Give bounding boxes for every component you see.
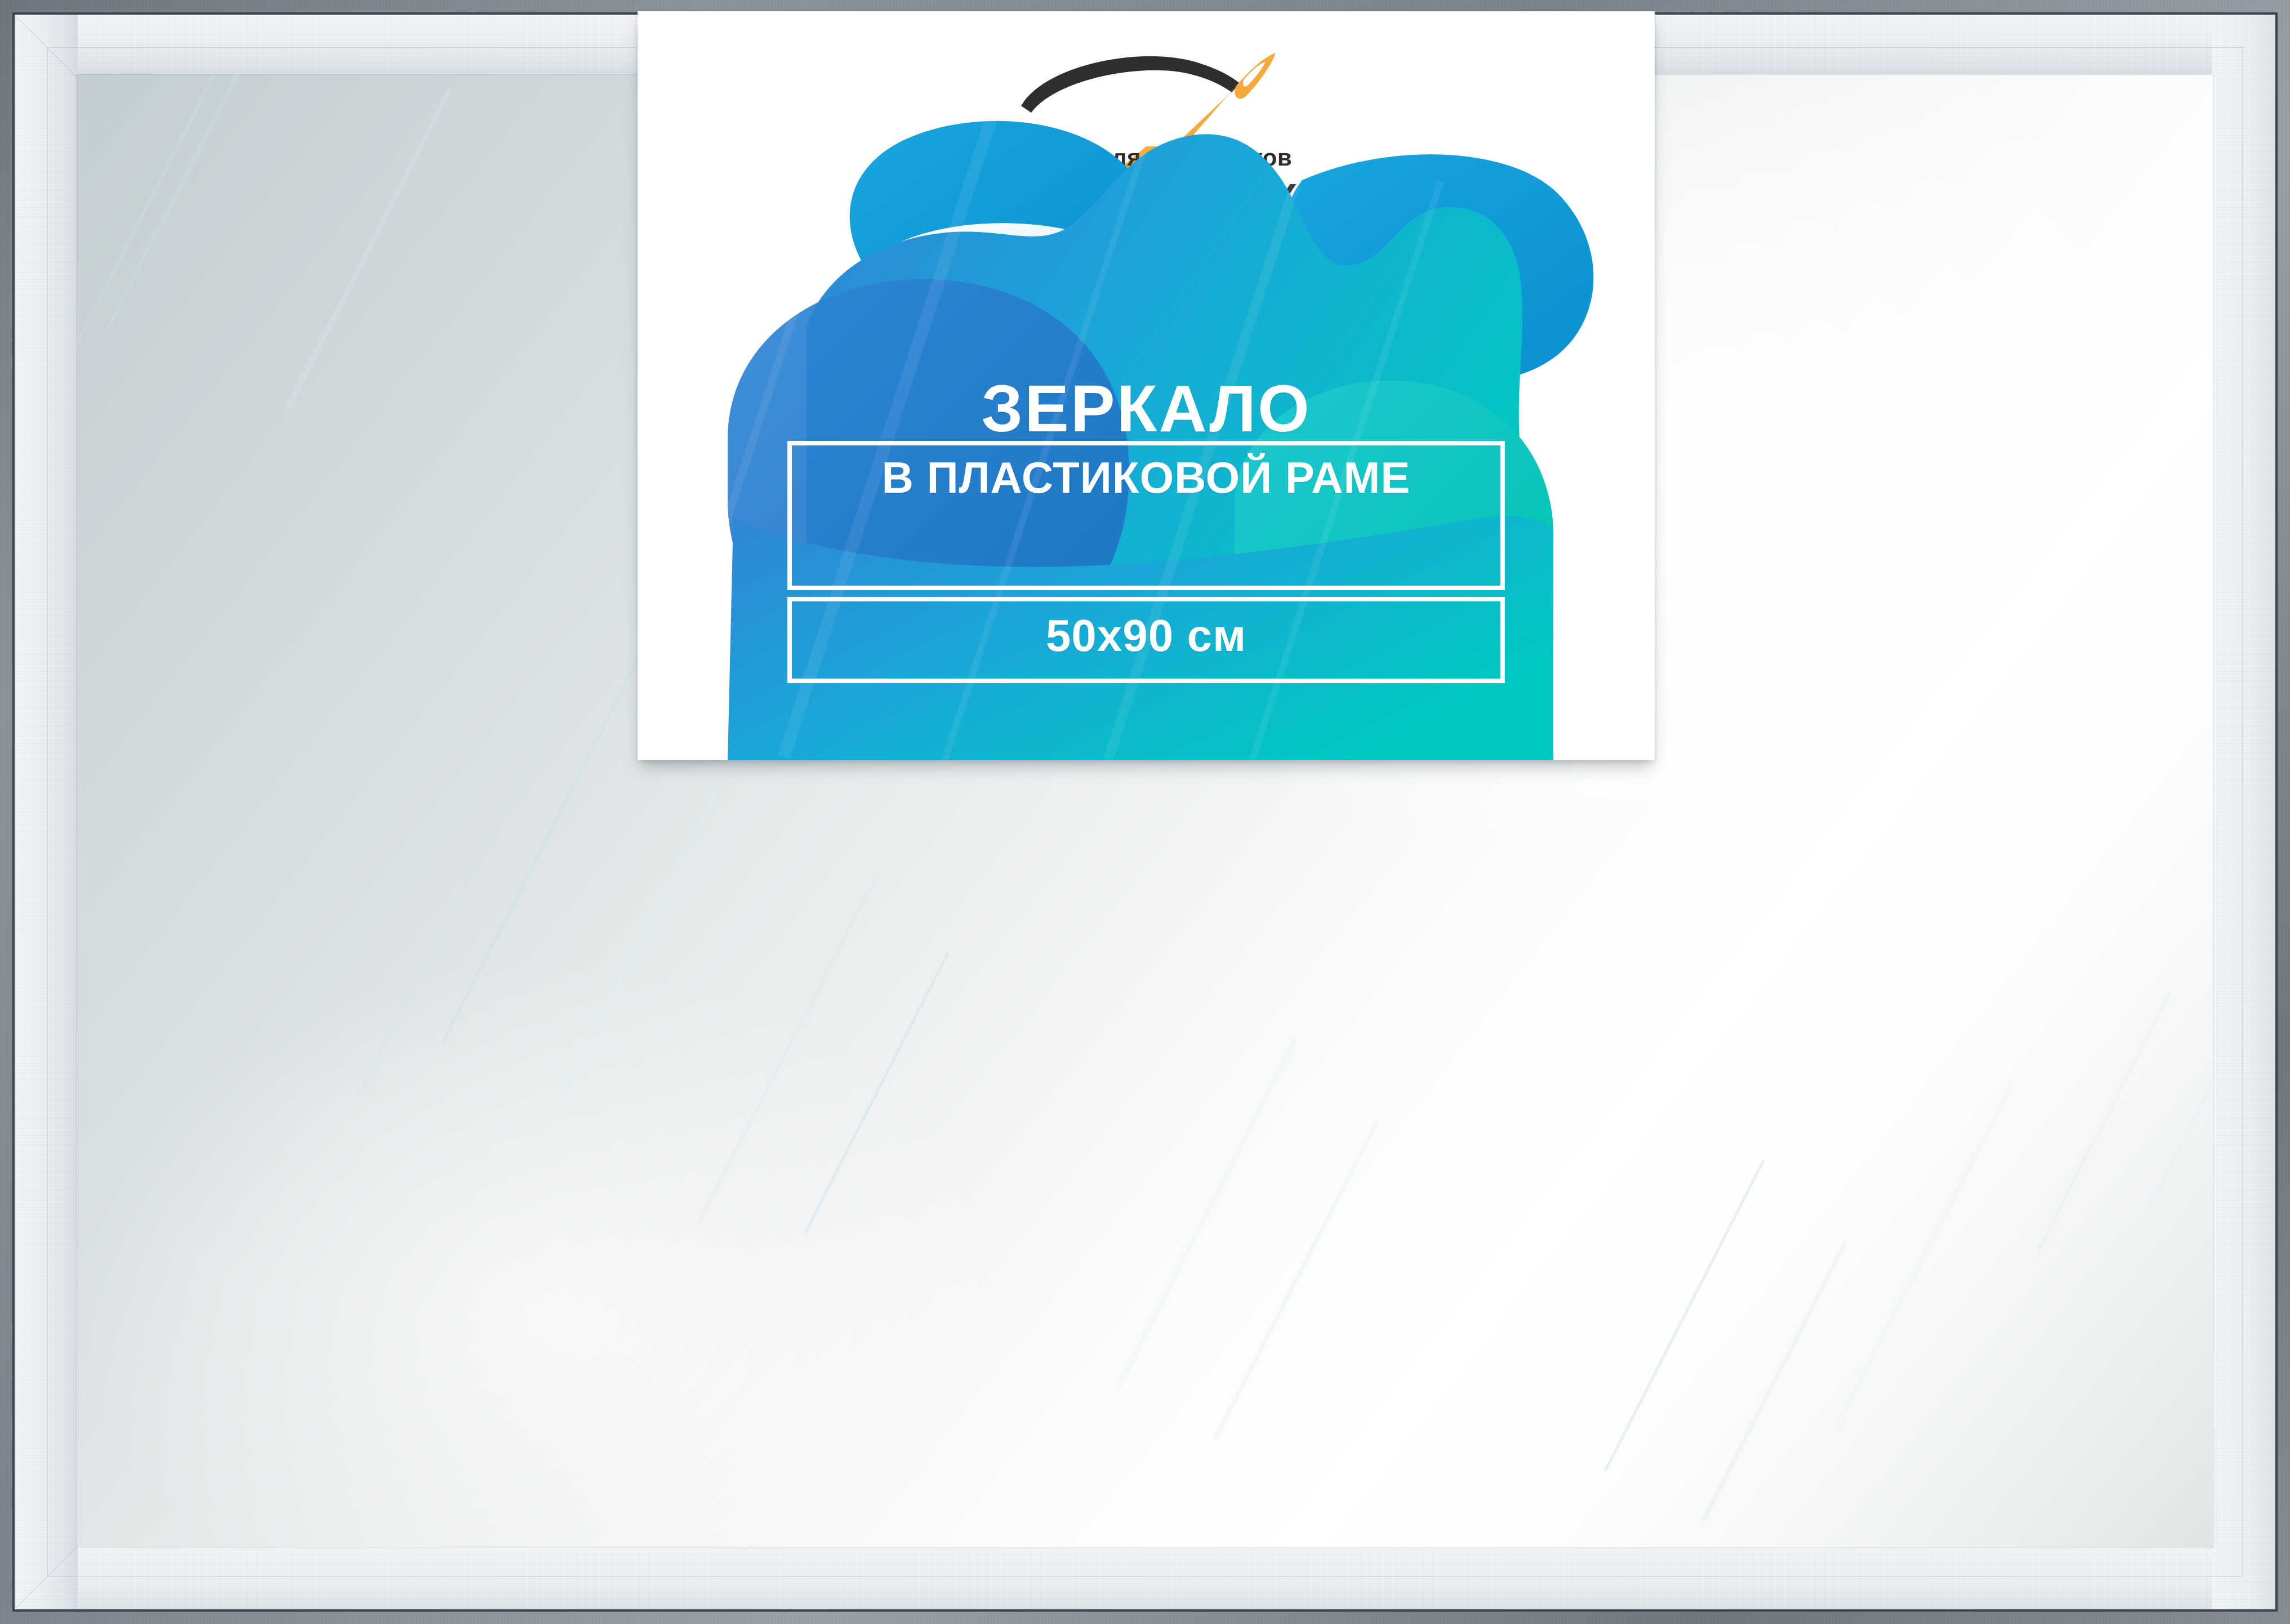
spec-boxes: ЗЕРКАЛО В ПЛАСТИКОВОЙ РАМЕ 50x90 см: [787, 441, 1505, 683]
product-image: товары для художников всеПОДРАМНИКИ: [0, 0, 2290, 1624]
product-label: товары для художников всеПОДРАМНИКИ: [638, 11, 1655, 760]
headline-text: ЗЕРКАЛО: [787, 371, 1505, 447]
size-text: 50x90 см: [787, 610, 1505, 662]
subheadline-text: В ПЛАСТИКОВОЙ РАМЕ: [787, 452, 1505, 503]
